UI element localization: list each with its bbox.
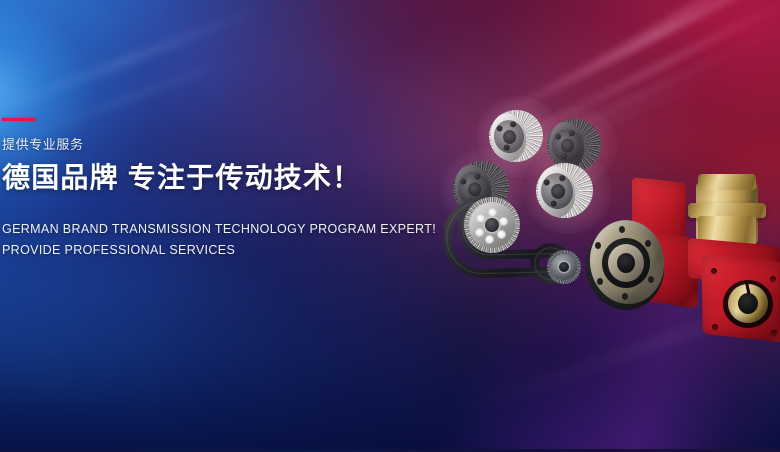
pulley-face [535, 164, 579, 220]
large-timing-sprocket [464, 197, 520, 253]
pulley-bolt [460, 178, 467, 185]
pulley-taper-bush [539, 171, 576, 211]
gearbox-output-flange [585, 215, 670, 308]
pulley-face [547, 120, 587, 171]
hero-headline-cn: 德国品牌 专注于传动技术！ [2, 161, 420, 195]
pulley-taper-bush [455, 169, 493, 210]
pulley-bolt [474, 173, 481, 180]
sprocket-teeth [464, 197, 520, 253]
pulley-halo-4 [524, 150, 612, 234]
flange-bolt-hole [712, 324, 718, 330]
gearbox-shaft-bore [738, 293, 758, 314]
timing-pulley-silver-top [485, 106, 546, 166]
flange-bolt-hole [771, 330, 777, 336]
pulley-bolt [503, 144, 510, 151]
gearbox-brass-flange-ring [688, 203, 766, 218]
pulley-taper-bush [492, 118, 527, 155]
flange-bolt-hole [622, 293, 628, 300]
gearbox-brass-clamp-hub [728, 284, 768, 323]
pulley-bolt [543, 179, 550, 186]
sprocket-lightening-hole [475, 228, 484, 237]
sprocket-lightening-hole [485, 235, 494, 244]
pulley-bolt [550, 200, 557, 207]
gearbox-output-flange-plate [701, 254, 780, 343]
pulley-bore [502, 129, 517, 145]
timing-pulley-silver-bottom [532, 159, 596, 221]
hero-english-line-2: PROVIDE PROFESSIONAL SERVICES [2, 240, 420, 261]
flange-bolt-hole [711, 268, 717, 274]
gearbox-housing-body [688, 238, 780, 286]
sprocket-lightening-hole [499, 217, 508, 226]
flange-bolt-hole [648, 276, 654, 283]
pulley-teeth [485, 106, 546, 166]
timing-belt-drive-assembly [444, 196, 594, 314]
gearbox-shaft-bore [617, 253, 635, 273]
pulley-bolt [510, 121, 517, 128]
light-ray-4 [389, 37, 780, 228]
gearbox-clamp-slot [745, 280, 751, 294]
light-ray-2 [489, 0, 780, 155]
timing-pulley-dark-top [544, 116, 603, 173]
pulley-face [488, 111, 530, 164]
right-angle-gearbox-front [678, 168, 780, 338]
pulley-bolt [561, 153, 568, 160]
pulley-bore [560, 138, 574, 153]
light-ray-1 [472, 0, 780, 131]
right-angle-gearbox-rear [588, 178, 728, 328]
gearbox-inner-ring [602, 238, 650, 288]
gearbox-brass-cap [698, 174, 756, 190]
pulley-bolt [555, 133, 562, 140]
sprocket-face [469, 202, 515, 248]
pulley-bolt [559, 175, 566, 182]
hero-english-line-1: GERMAN BRAND TRANSMISSION TECHNOLOGY PRO… [2, 219, 420, 240]
gearbox-brass-cylinder [696, 182, 758, 244]
light-ray-7 [539, 0, 780, 93]
sprocket-bore [485, 218, 499, 232]
gearbox-housing-arm [632, 177, 686, 275]
light-ray-8 [439, 270, 780, 423]
sprocket-lightening-hole [497, 230, 506, 239]
pulley-teeth [448, 156, 514, 220]
pulley-teeth [532, 159, 596, 221]
flange-bolt-hole [619, 226, 625, 233]
red-accent-rule [2, 118, 36, 121]
toothed-timing-belt [444, 196, 594, 314]
hero-text-block: 提供专业服务 德国品牌 专注于传动技术！ GERMAN BRAND TRANSM… [0, 118, 420, 261]
gearbox-hub-face [608, 244, 644, 282]
pulley-taper-bush [550, 127, 583, 163]
hero-english-lines: GERMAN BRAND TRANSMISSION TECHNOLOGY PRO… [2, 219, 420, 261]
pulley-bolt [568, 130, 575, 137]
pulley-halo-3 [440, 148, 526, 230]
pulley-halo-1 [476, 96, 562, 178]
gearbox-brass-neck [698, 216, 756, 248]
sprocket-face [551, 254, 577, 280]
flange-bolt-hole [597, 278, 603, 285]
pulley-halo-2 [534, 106, 618, 186]
pulley-bolt [468, 198, 475, 205]
small-timing-sprocket [547, 250, 581, 284]
light-ray-3 [420, 10, 780, 207]
sprocket-lightening-hole [476, 214, 485, 223]
pulley-bore [550, 183, 566, 200]
gearbox-bore-ring [723, 280, 773, 328]
flange-bolt-hole [595, 242, 601, 249]
sprocket-bore [559, 262, 569, 272]
light-ray-5 [0, 0, 290, 132]
pulley-teeth [544, 116, 603, 173]
pulley-bore [467, 181, 483, 197]
flange-bolt-hole [645, 240, 651, 247]
gearbox-housing-body [612, 225, 698, 309]
timing-pulley-dark-left [448, 156, 514, 220]
pulley-bolt [496, 125, 503, 132]
hero-subtitle-cn: 提供专业服务 [2, 137, 420, 153]
flange-bolt-hole [770, 276, 776, 282]
gearbox-seal-ring [580, 219, 669, 315]
sprocket-lightening-hole [488, 208, 497, 217]
hero-banner: 提供专业服务 德国品牌 专注于传动技术！ GERMAN BRAND TRANSM… [0, 0, 780, 452]
pulley-face [450, 161, 496, 217]
